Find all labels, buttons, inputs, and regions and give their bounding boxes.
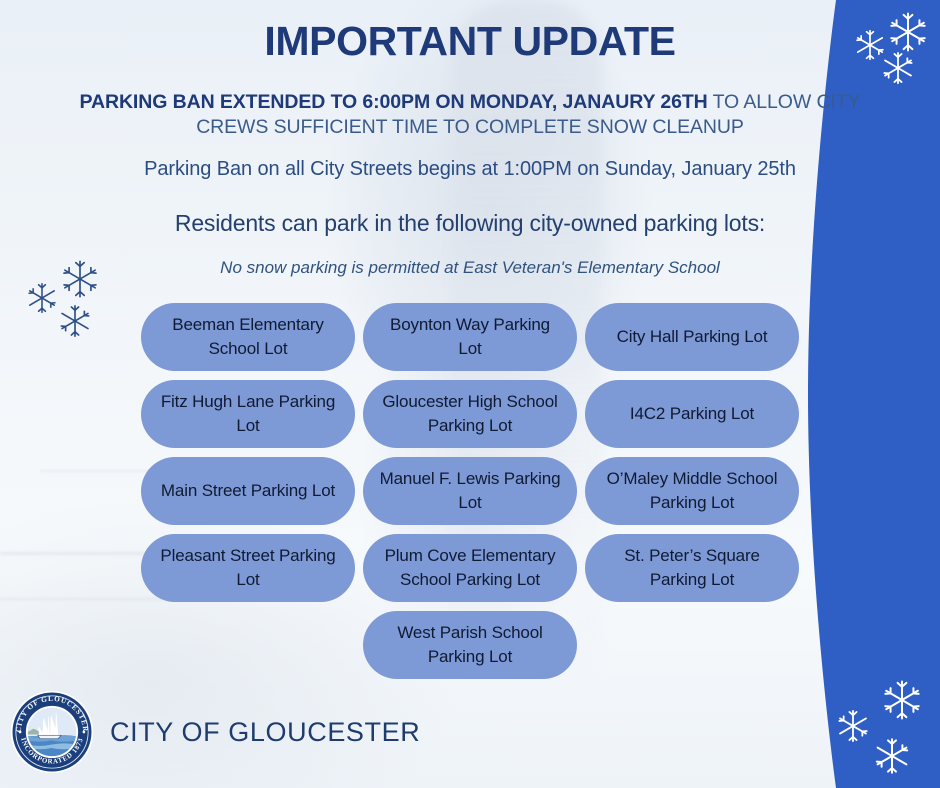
parking-lot-pill[interactable]: City Hall Parking Lot	[585, 303, 799, 371]
city-seal-icon: CITY OF GLOUCESTER INCORPORATED 1873	[10, 690, 94, 774]
headline-text: PARKING BAN EXTENDED TO 6:00PM ON MONDAY…	[46, 90, 894, 140]
parking-lot-pill[interactable]: I4C2 Parking Lot	[585, 380, 799, 448]
city-name-label: CITY OF GLOUCESTER	[110, 717, 420, 748]
parking-lot-pill[interactable]: Manuel F. Lewis Parking Lot	[363, 457, 577, 525]
snowflake-icon	[835, 708, 871, 744]
parking-lot-pill-placeholder	[585, 611, 799, 679]
snowflake-icon	[57, 303, 93, 339]
parking-lot-pill[interactable]: O’Maley Middle School Parking Lot	[585, 457, 799, 525]
parking-lot-pill[interactable]: Gloucester High School Parking Lot	[363, 380, 577, 448]
lead-text: Residents can park in the following city…	[40, 210, 900, 237]
parking-lot-grid: Beeman Elementary School Lot Boynton Way…	[141, 303, 796, 679]
parking-lot-pill[interactable]: Boynton Way Parking Lot	[363, 303, 577, 371]
parking-lot-pill[interactable]: Pleasant Street Parking Lot	[141, 534, 355, 602]
note-text: No snow parking is permitted at East Vet…	[40, 258, 900, 278]
headline-bold: PARKING BAN EXTENDED TO 6:00PM ON MONDAY…	[80, 91, 708, 113]
page-title: IMPORTANT UPDATE	[0, 18, 940, 65]
footer: CITY OF GLOUCESTER INCORPORATED 1873 CIT…	[10, 690, 420, 774]
parking-lot-pill-placeholder	[141, 611, 355, 679]
subline-text: Parking Ban on all City Streets begins a…	[40, 158, 900, 181]
snowflake-icon	[25, 281, 59, 315]
snowflake-icon	[880, 678, 924, 722]
parking-lot-pill[interactable]: Fitz Hugh Lane Parking Lot	[141, 380, 355, 448]
parking-lot-pill[interactable]: St. Peter’s Square Parking Lot	[585, 534, 799, 602]
parking-lot-pill[interactable]: Plum Cove Elementary School Parking Lot	[363, 534, 577, 602]
parking-lot-pill[interactable]: West Parish School Parking Lot	[363, 611, 577, 679]
poster-canvas: IMPORTANT UPDATE PARKING BAN EXTENDED TO…	[0, 0, 940, 788]
parking-lot-pill[interactable]: Beeman Elementary School Lot	[141, 303, 355, 371]
parking-lot-pill[interactable]: Main Street Parking Lot	[141, 457, 355, 525]
snowflake-icon	[872, 736, 912, 776]
